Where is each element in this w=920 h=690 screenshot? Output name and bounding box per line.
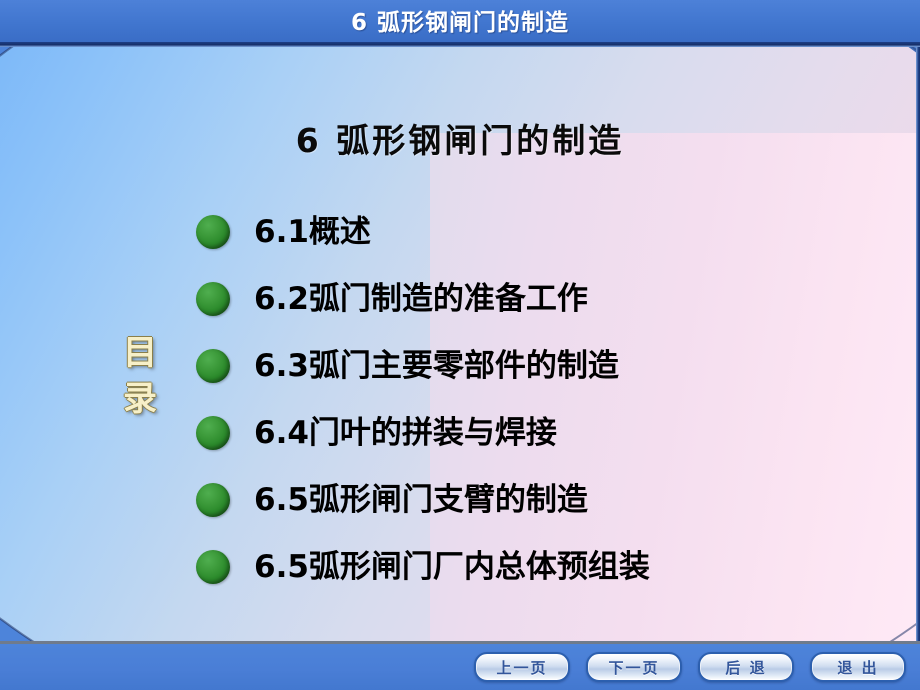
- list-item-label: 6.2弧门制造的准备工作: [254, 282, 588, 316]
- toc-label-char-2: 录: [110, 376, 170, 422]
- toc-list: 6.1概述 6.2弧门制造的准备工作 6.3弧门主要零部件的制造 6.4门叶的拼…: [196, 198, 896, 600]
- navigation-button-group: 上一页 下一页 后 退 退 出: [474, 652, 906, 682]
- list-item[interactable]: 6.1概述: [196, 198, 896, 265]
- list-item-label: 6.1概述: [254, 215, 371, 249]
- exit-button-label: 退 出: [837, 657, 878, 678]
- green-circle-bullet-icon: [196, 215, 230, 249]
- list-item-label: 6.5弧形闸门支臂的制造: [254, 483, 588, 517]
- list-item[interactable]: 6.5弧形闸门支臂的制造: [196, 466, 896, 533]
- prev-page-button-label: 上一页: [496, 657, 547, 678]
- list-item[interactable]: 6.5弧形闸门厂内总体预组装: [196, 533, 896, 600]
- list-item-label: 6.5弧形闸门厂内总体预组装: [254, 550, 650, 584]
- green-circle-bullet-icon: [196, 349, 230, 383]
- next-page-button-label: 下一页: [608, 657, 659, 678]
- slide-title: 6 弧形钢闸门的制造: [0, 114, 920, 162]
- list-item[interactable]: 6.2弧门制造的准备工作: [196, 265, 896, 332]
- list-item[interactable]: 6.3弧门主要零部件的制造: [196, 332, 896, 399]
- toc-label-char-1: 目: [110, 330, 170, 376]
- slide-header-bar: 6 弧形钢闸门的制造: [0, 0, 920, 42]
- green-circle-bullet-icon: [196, 416, 230, 450]
- prev-page-button[interactable]: 上一页: [474, 652, 570, 682]
- next-page-button[interactable]: 下一页: [586, 652, 682, 682]
- green-circle-bullet-icon: [196, 550, 230, 584]
- exit-button[interactable]: 退 出: [810, 652, 906, 682]
- toc-side-label: 目 录: [110, 330, 170, 422]
- back-button-label: 后 退: [725, 657, 766, 678]
- green-circle-bullet-icon: [196, 483, 230, 517]
- green-circle-bullet-icon: [196, 282, 230, 316]
- header-divider-rule: [0, 42, 920, 47]
- list-item-label: 6.4门叶的拼装与焊接: [254, 416, 557, 450]
- list-item-label: 6.3弧门主要零部件的制造: [254, 349, 619, 383]
- presentation-slide: 6 弧形钢闸门的制造 6 弧形钢闸门的制造 目 录 6.1概述 6.2弧门制造的…: [0, 0, 920, 690]
- header-title: 6 弧形钢闸门的制造: [0, 3, 920, 37]
- list-item[interactable]: 6.4门叶的拼装与焊接: [196, 399, 896, 466]
- back-button[interactable]: 后 退: [698, 652, 794, 682]
